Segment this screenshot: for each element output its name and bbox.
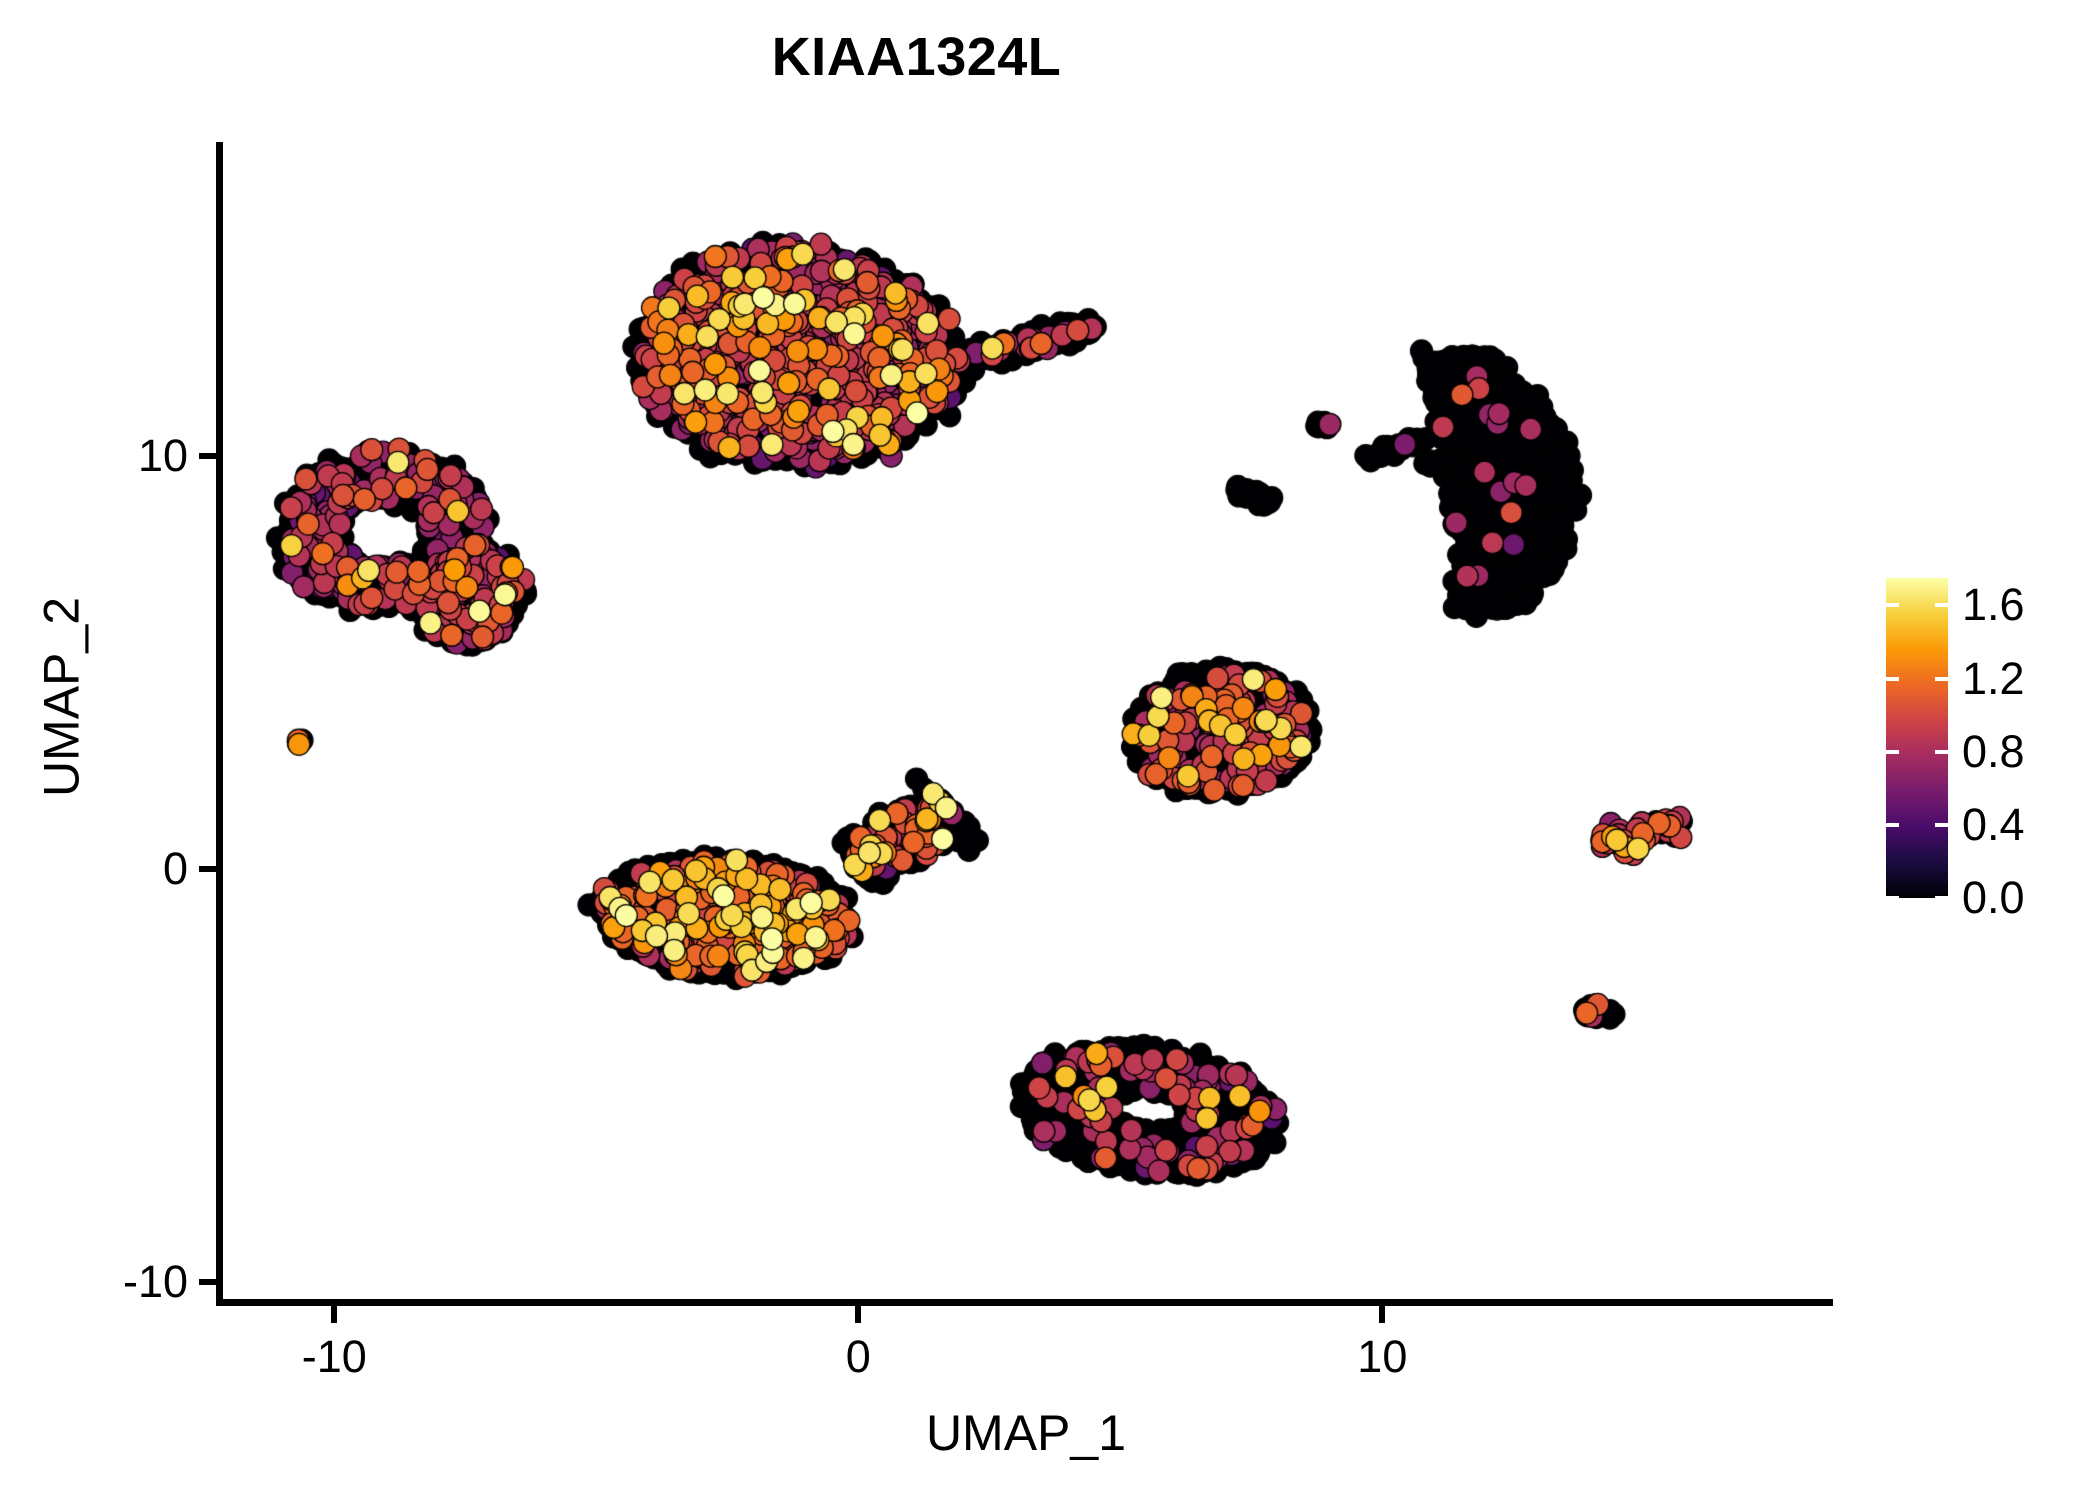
colorbar-tick-mark <box>1935 823 1948 827</box>
colorbar-tick-mark <box>1886 750 1899 754</box>
colorbar-gradient <box>1886 578 1948 898</box>
colorbar-tick-mark <box>1935 896 1948 900</box>
color-legend: 0.00.40.81.21.6 <box>1884 560 2100 920</box>
plot-panel <box>219 142 1833 1303</box>
y-axis-line <box>216 142 223 1306</box>
y-axis-title: UMAP_2 <box>33 117 91 1278</box>
x-tick-label: 0 <box>758 1331 958 1383</box>
x-tick-mark <box>1379 1306 1385 1323</box>
x-axis-title: UMAP_1 <box>219 1404 1833 1462</box>
colorbar-tick-mark <box>1935 750 1948 754</box>
colorbar-tick-label: 0.0 <box>1962 872 2025 924</box>
colorbar-tick-mark <box>1935 677 1948 681</box>
x-tick-mark <box>331 1306 337 1323</box>
y-tick-mark <box>199 453 216 459</box>
scatter-plot-canvas <box>219 142 1833 1303</box>
x-tick-mark <box>855 1306 861 1323</box>
y-tick-mark <box>199 866 216 872</box>
colorbar-tick-mark <box>1935 603 1948 607</box>
colorbar-tick-label: 1.2 <box>1962 653 2025 705</box>
x-tick-label: -10 <box>234 1331 434 1383</box>
colorbar-tick-label: 0.4 <box>1962 799 2025 851</box>
colorbar-tick-label: 1.6 <box>1962 579 2025 631</box>
x-tick-label: 10 <box>1282 1331 1482 1383</box>
x-axis-line <box>216 1299 1833 1306</box>
colorbar-tick-mark <box>1886 896 1899 900</box>
page-title: KIAA1324L <box>0 26 1833 88</box>
colorbar-tick-mark <box>1886 823 1899 827</box>
colorbar-tick-mark <box>1886 677 1899 681</box>
colorbar-tick-mark <box>1886 603 1899 607</box>
y-tick-mark <box>199 1279 216 1285</box>
umap-feature-plot: KIAA1324L -10010 -10010 UMAP_1 UMAP_2 0.… <box>0 0 2100 1500</box>
colorbar-tick-label: 0.8 <box>1962 726 2025 778</box>
